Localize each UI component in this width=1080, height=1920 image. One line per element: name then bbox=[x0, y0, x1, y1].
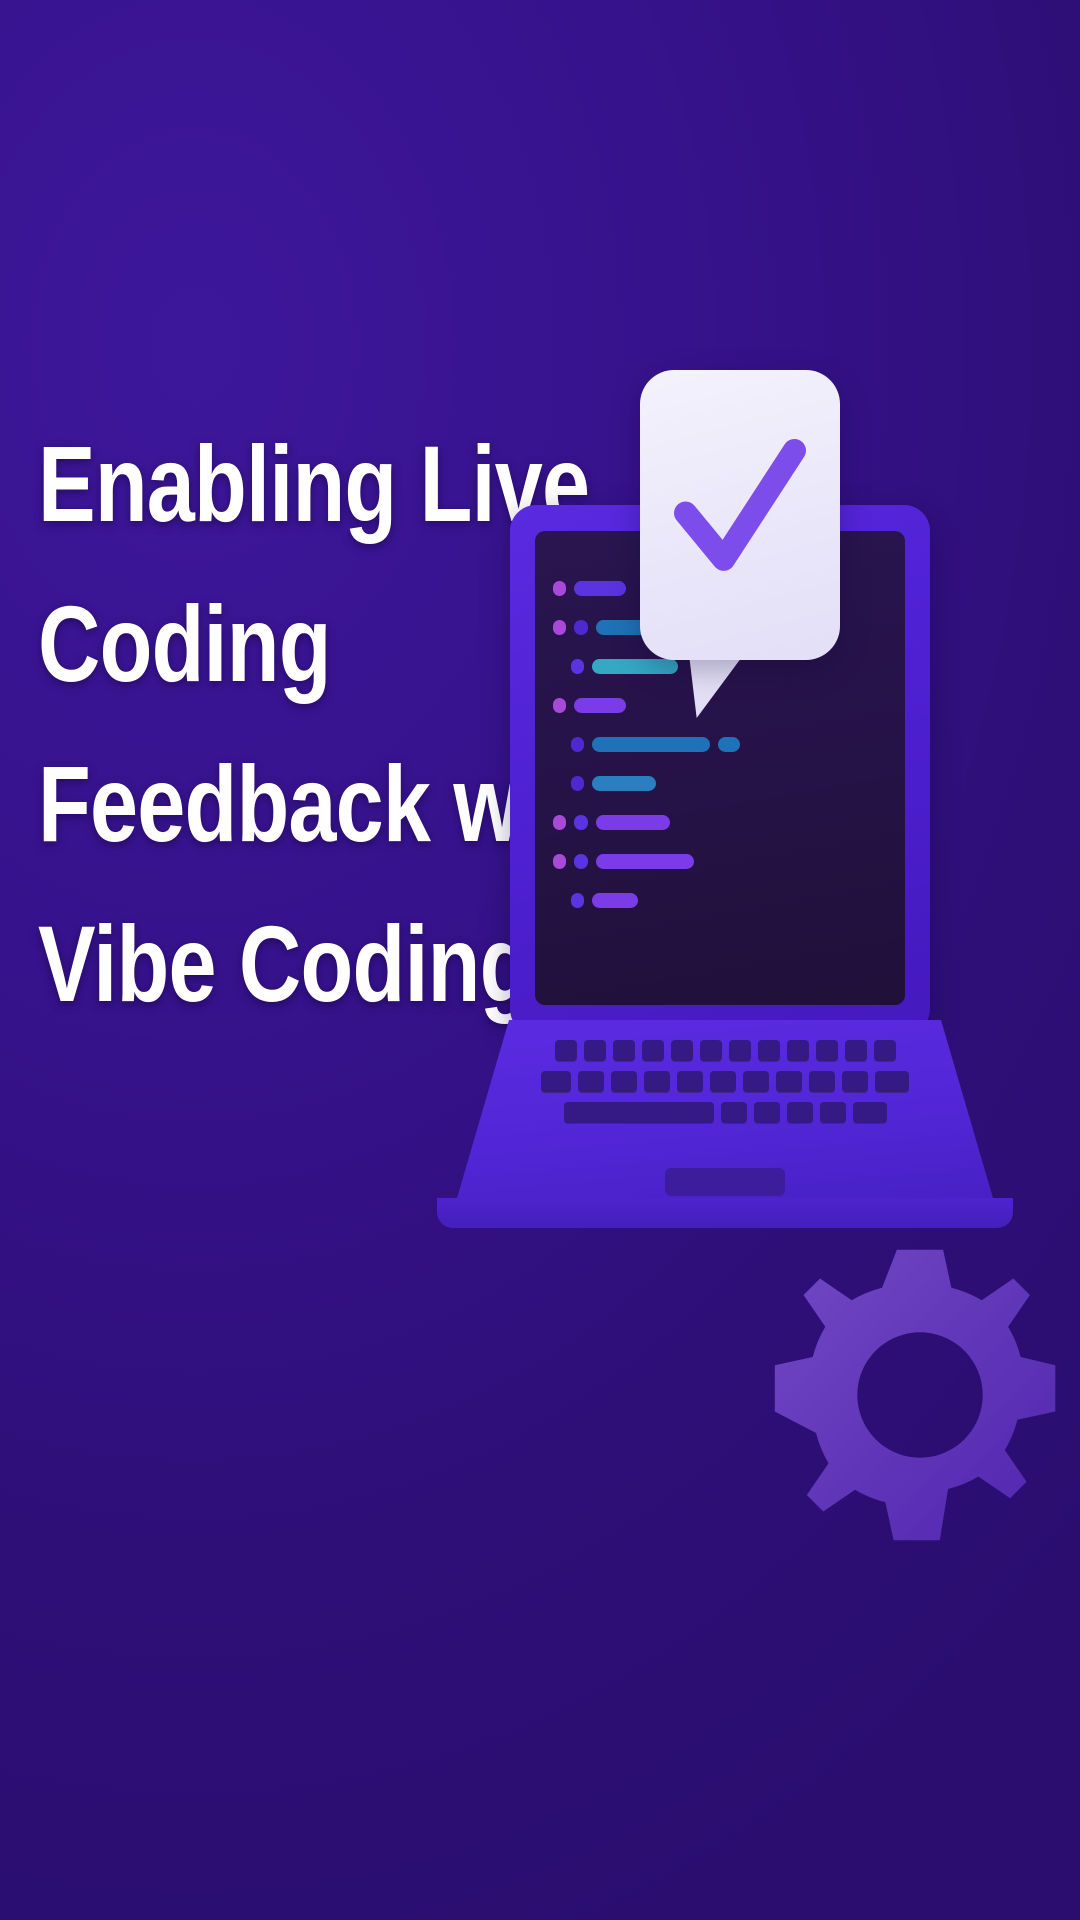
keyboard-key bbox=[754, 1102, 780, 1124]
laptop-deck-lip bbox=[437, 1198, 1013, 1228]
title-line-4: Vibe Coding bbox=[38, 910, 462, 1018]
laptop-keyboard bbox=[507, 1040, 943, 1158]
keyboard-key bbox=[816, 1040, 838, 1062]
keyboard-key bbox=[809, 1071, 835, 1093]
code-token bbox=[574, 620, 588, 635]
keyboard-key bbox=[776, 1071, 802, 1093]
code-token bbox=[574, 581, 626, 596]
keyboard-key bbox=[729, 1040, 751, 1062]
code-line bbox=[553, 696, 895, 714]
keyboard-key bbox=[787, 1040, 809, 1062]
keyboard-key bbox=[677, 1071, 703, 1093]
keyboard-key bbox=[842, 1071, 868, 1093]
code-token bbox=[718, 737, 740, 752]
keyboard-key bbox=[721, 1102, 747, 1124]
code-line-marker bbox=[553, 581, 566, 596]
code-line bbox=[553, 891, 895, 909]
title-line-1: Enabling Live bbox=[38, 430, 462, 538]
code-token bbox=[592, 893, 638, 908]
keyboard-key bbox=[700, 1040, 722, 1062]
approval-speech-bubble bbox=[640, 370, 840, 660]
code-line bbox=[553, 813, 895, 831]
keyboard-key bbox=[642, 1040, 664, 1062]
keyboard-row bbox=[507, 1102, 943, 1124]
keyboard-row bbox=[507, 1040, 943, 1062]
keyboard-key bbox=[644, 1071, 670, 1093]
code-line-marker bbox=[571, 776, 584, 791]
poster-canvas: Enabling Live Coding Feedback with Vibe … bbox=[0, 0, 1080, 1920]
keyboard-key bbox=[671, 1040, 693, 1062]
keyboard-key bbox=[787, 1102, 813, 1124]
title-line-2: Coding bbox=[38, 590, 462, 698]
keyboard-key bbox=[613, 1040, 635, 1062]
code-token bbox=[596, 815, 670, 830]
laptop-illustration bbox=[455, 360, 1080, 1540]
code-token bbox=[592, 659, 678, 674]
keyboard-key bbox=[578, 1071, 604, 1093]
keyboard-key bbox=[820, 1102, 846, 1124]
keyboard-key bbox=[743, 1071, 769, 1093]
code-line-marker bbox=[553, 620, 566, 635]
code-token bbox=[592, 776, 656, 791]
title-line-3: Feedback with bbox=[38, 750, 462, 858]
keyboard-key bbox=[541, 1071, 571, 1093]
code-token bbox=[574, 815, 588, 830]
keyboard-key bbox=[710, 1071, 736, 1093]
code-token bbox=[596, 854, 694, 869]
keyboard-key bbox=[875, 1071, 909, 1093]
keyboard-key bbox=[845, 1040, 867, 1062]
code-line-marker bbox=[571, 737, 584, 752]
keyboard-key bbox=[611, 1071, 637, 1093]
keyboard-key bbox=[853, 1102, 887, 1124]
laptop-base bbox=[455, 1020, 995, 1250]
code-token bbox=[592, 737, 710, 752]
code-line-marker bbox=[553, 815, 566, 830]
code-line bbox=[553, 774, 895, 792]
code-line-marker bbox=[571, 659, 584, 674]
checkmark-icon bbox=[672, 434, 808, 584]
code-line bbox=[553, 852, 895, 870]
keyboard-key bbox=[874, 1040, 896, 1062]
keyboard-row bbox=[507, 1071, 943, 1093]
code-token bbox=[574, 854, 588, 869]
keyboard-key bbox=[564, 1102, 714, 1124]
code-line-marker bbox=[553, 854, 566, 869]
code-line bbox=[553, 735, 895, 753]
keyboard-key bbox=[758, 1040, 780, 1062]
laptop-trackpad bbox=[665, 1168, 785, 1196]
code-line-marker bbox=[571, 893, 584, 908]
code-token bbox=[574, 698, 626, 713]
keyboard-key bbox=[555, 1040, 577, 1062]
gear-icon bbox=[755, 1230, 1080, 1560]
code-line-marker bbox=[553, 698, 566, 713]
keyboard-key bbox=[584, 1040, 606, 1062]
